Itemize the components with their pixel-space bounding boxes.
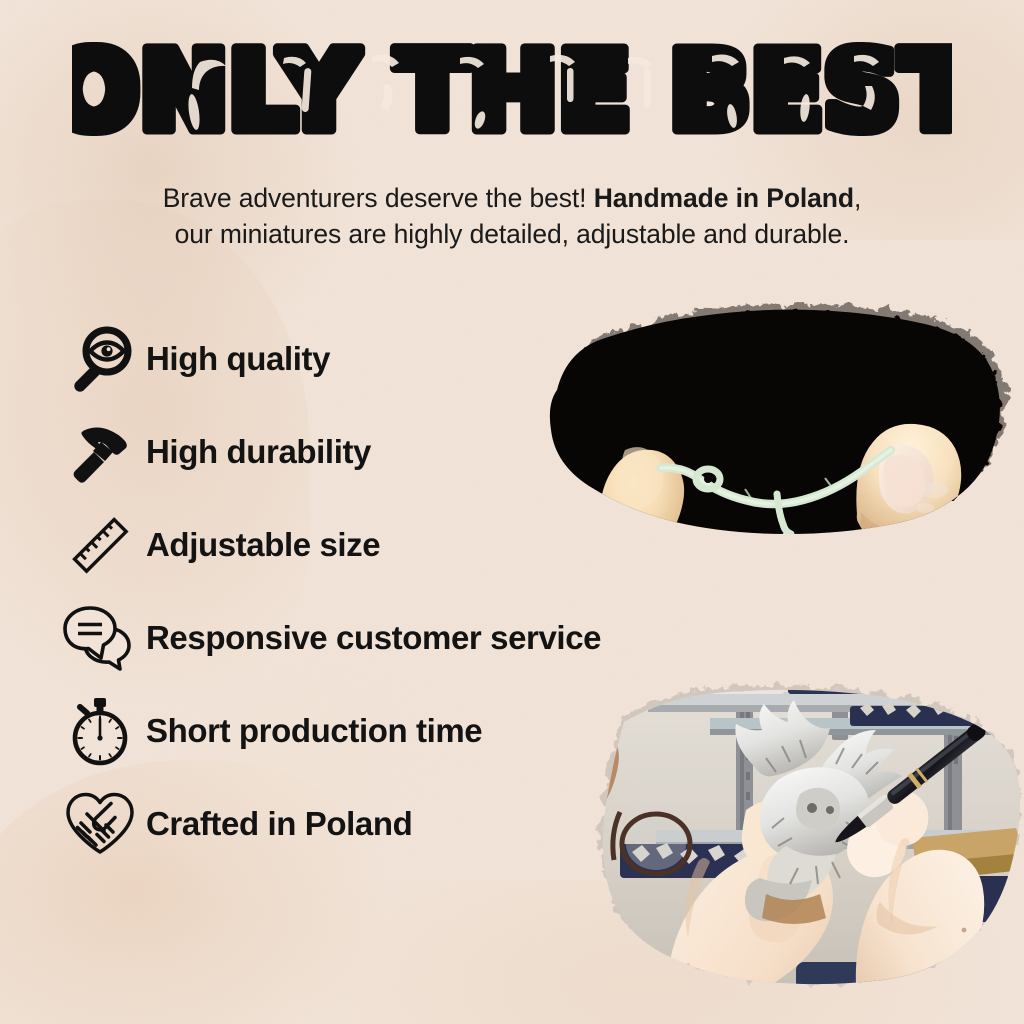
svg-text:2: 2 xyxy=(678,675,687,692)
ruler-icon xyxy=(58,505,142,585)
feature-label: Short production time xyxy=(146,712,482,750)
feature-label: High quality xyxy=(146,340,330,378)
feature-label: Crafted in Poland xyxy=(146,805,412,843)
magnifier-eye-icon xyxy=(58,319,142,399)
svg-text:ONLY THE BEST: ONLY THE BEST xyxy=(72,30,952,152)
subtitle-line-1-tail: , xyxy=(854,183,861,213)
subtitle-highlight: Handmade in Poland xyxy=(594,183,854,213)
feature-label: High durability xyxy=(146,433,371,471)
speech-bubbles-icon xyxy=(58,598,142,678)
miniature-flex-photo xyxy=(505,282,1024,622)
infographic-canvas: ONLY THE BEST ONLY THE BEST xyxy=(0,0,1024,1024)
feature-label: Adjustable size xyxy=(146,526,380,564)
hammer-icon xyxy=(58,412,142,492)
feature-label: Responsive customer service xyxy=(146,619,601,657)
handshake-heart-icon xyxy=(58,784,142,864)
title-artwork: ONLY THE BEST ONLY THE BEST xyxy=(72,28,952,158)
stopwatch-icon xyxy=(58,691,142,771)
subtitle-line-2: our miniatures are highly detailed, adju… xyxy=(0,216,1024,252)
page-title: ONLY THE BEST ONLY THE BEST xyxy=(0,28,1024,158)
subtitle: Brave adventurers deserve the best! Hand… xyxy=(0,180,1024,252)
workshop-painting-photo: 2 xyxy=(560,662,1024,1024)
subtitle-line-1-lead: Brave adventurers deserve the best! xyxy=(163,183,594,213)
subtitle-line-1: Brave adventurers deserve the best! Hand… xyxy=(0,180,1024,216)
